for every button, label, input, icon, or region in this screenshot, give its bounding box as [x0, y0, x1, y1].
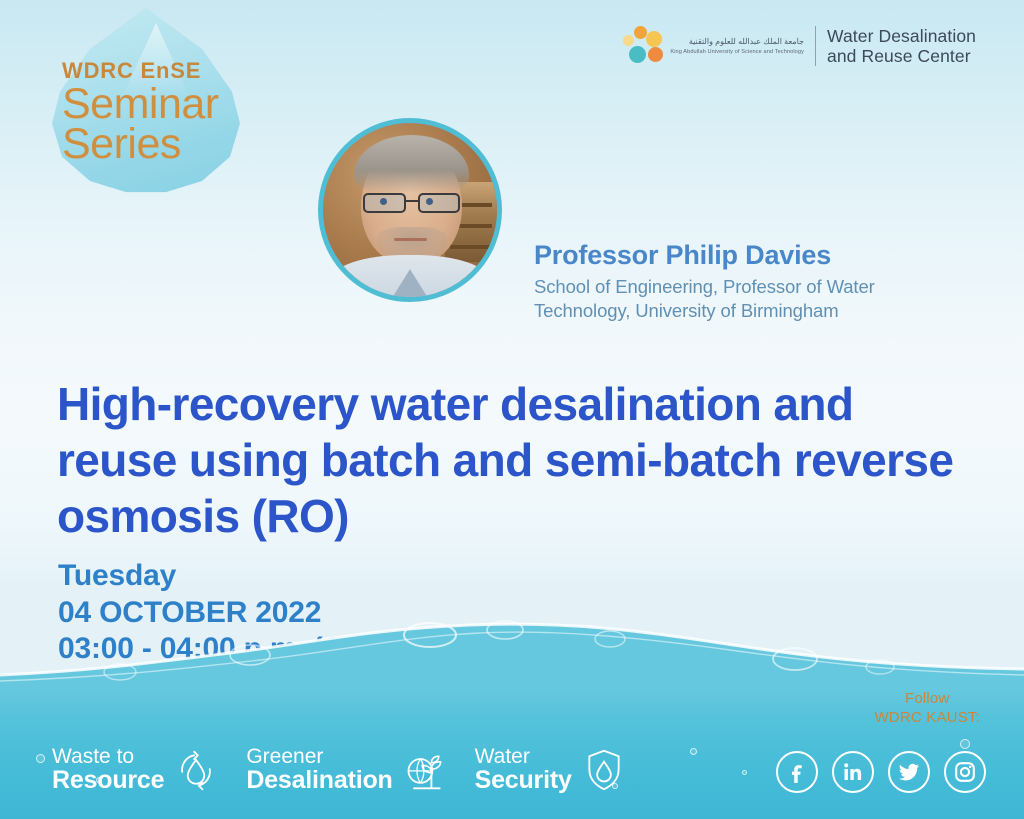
tagline-bottom-line: Desalination [246, 768, 392, 794]
social-links [776, 751, 986, 793]
brand-divider [815, 26, 816, 66]
droplet-logo-text: WDRC EnSE Seminar Series [62, 60, 252, 164]
bubble [960, 739, 970, 749]
bubble [690, 748, 697, 755]
center-name-line-2: and Reuse Center [827, 46, 976, 66]
logo-eyebrow: WDRC EnSE [62, 60, 252, 82]
facebook-link[interactable] [776, 751, 818, 793]
kaust-dots-icon [622, 26, 664, 66]
tagline-text: Water Security [475, 746, 572, 793]
seminar-title: High-recovery water desalination and reu… [57, 376, 957, 544]
follow-text: Follow WDRC KAUST: [874, 689, 980, 727]
speaker-affiliation: School of Engineering, Professor of Wate… [534, 275, 954, 322]
twitter-icon [897, 760, 921, 784]
shield-drop-icon [582, 747, 626, 793]
logo-series-word: Series [62, 124, 252, 164]
tagline-water-security: Water Security [475, 746, 626, 793]
water-surface-wave [0, 619, 1024, 689]
facebook-icon [785, 760, 809, 784]
follow-line-1: Follow [874, 689, 980, 708]
tagline-bottom-line: Resource [52, 768, 164, 794]
follow-label-block: Follow WDRC KAUST: [874, 689, 980, 727]
tagline-bottom-line: Security [475, 768, 572, 794]
follow-line-2: WDRC KAUST: [874, 708, 980, 727]
instagram-link[interactable] [944, 751, 986, 793]
bubble [36, 754, 45, 763]
kaust-arabic-name: جامعة الملك عبدالله للعلوم والتقنية [670, 38, 804, 47]
linkedin-link[interactable] [832, 751, 874, 793]
tagline-waste-to-resource: Waste to Resource [52, 746, 218, 793]
portrait-photo [323, 123, 497, 297]
bubble [742, 770, 747, 775]
instagram-icon [953, 760, 977, 784]
logo-seminar-word: Seminar [62, 84, 252, 124]
tagline-top-line: Waste to [52, 746, 164, 767]
speaker-portrait [318, 118, 502, 302]
speaker-affiliation-line-2: Technology, University of Birmingham [534, 299, 954, 323]
tagline-greener-desalination: Greener Desalination [246, 746, 446, 793]
water-drop-recycle-icon [174, 747, 218, 793]
tagline-top-line: Water [475, 746, 572, 767]
tagline-top-line: Greener [246, 746, 392, 767]
twitter-link[interactable] [888, 751, 930, 793]
tagline-text: Greener Desalination [246, 746, 392, 793]
brand-lockup: جامعة الملك عبدالله للعلوم والتقنية King… [622, 26, 976, 67]
kaust-wordmark: جامعة الملك عبدالله للعلوم والتقنية King… [670, 38, 804, 55]
seminar-poster: WDRC EnSE Seminar Series جامعة الملك عبد… [0, 0, 1024, 819]
kaust-english-name: King Abdullah University of Science and … [670, 49, 804, 55]
speaker-name: Professor Philip Davies [534, 240, 954, 271]
globe-plant-icon [403, 747, 447, 793]
seminar-series-logo: WDRC EnSE Seminar Series [46, 8, 246, 194]
center-name-line-1: Water Desalination [827, 26, 976, 46]
tagline-group: Waste to Resource Greener Desalination [52, 746, 626, 793]
linkedin-icon [841, 760, 865, 784]
center-name: Water Desalination and Reuse Center [827, 26, 976, 67]
kaust-logo: جامعة الملك عبدالله للعلوم والتقنية King… [622, 26, 804, 66]
schedule-weekday: Tuesday [58, 558, 858, 595]
speaker-affiliation-line-1: School of Engineering, Professor of Wate… [534, 275, 954, 299]
tagline-text: Waste to Resource [52, 746, 164, 793]
speaker-info: Professor Philip Davies School of Engine… [534, 240, 954, 322]
